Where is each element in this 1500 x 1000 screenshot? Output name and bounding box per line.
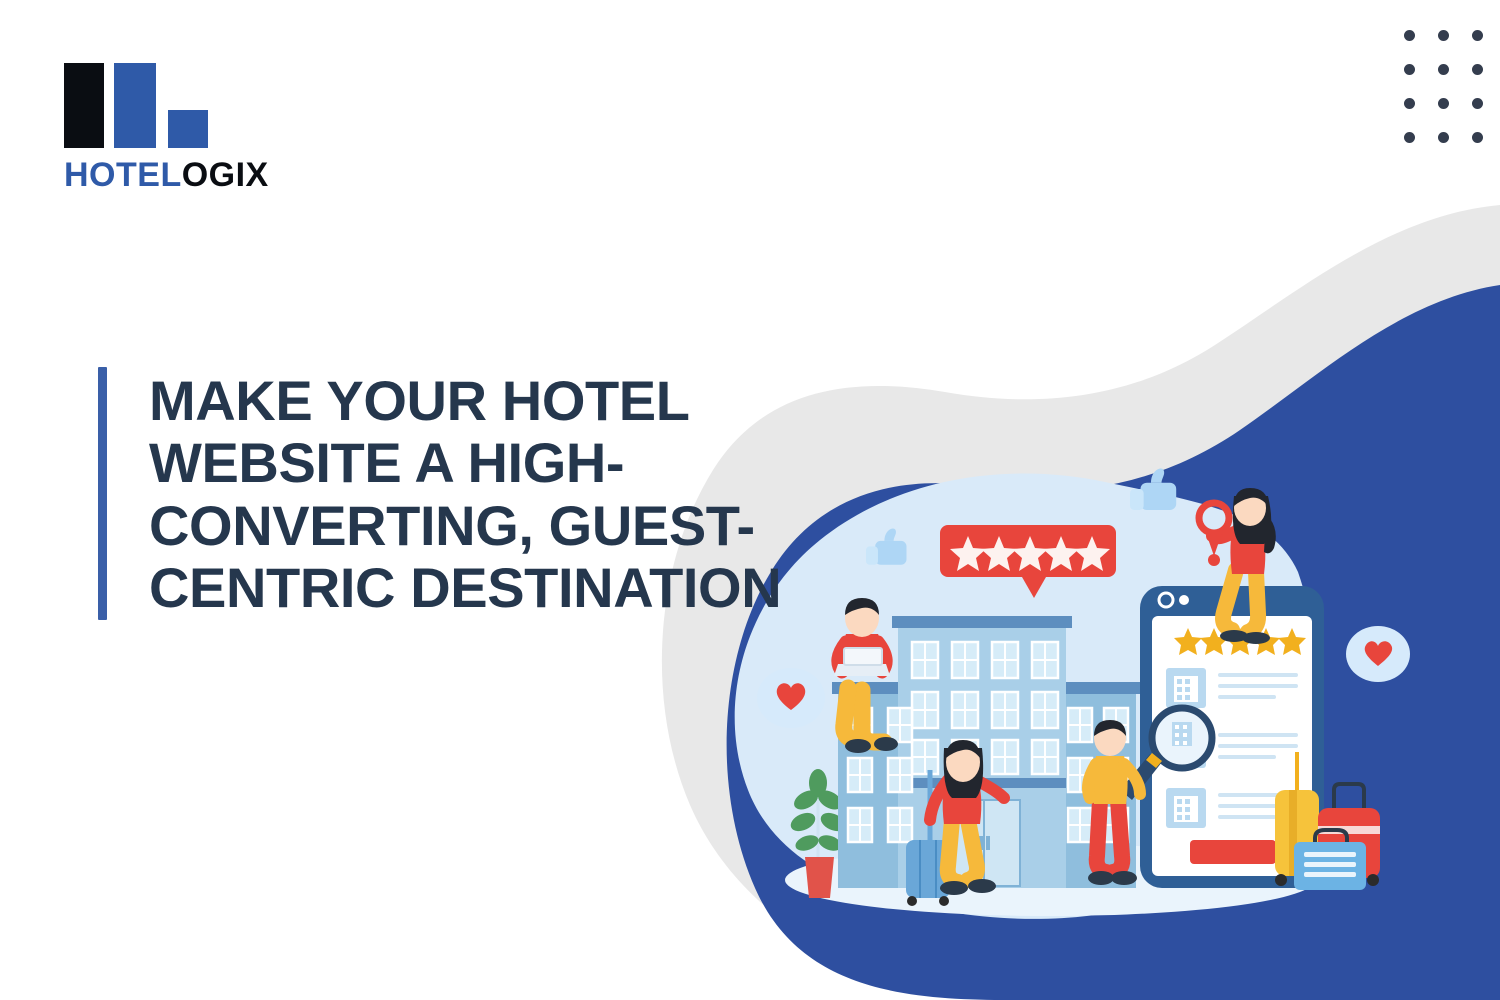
dot-grid-decoration [1392, 18, 1494, 154]
hero-banner: HOTELOGIX MAKE YOUR HOTEL WEBSITE A HIGH… [0, 0, 1500, 1000]
grid-dot [1438, 132, 1449, 143]
grid-dot [1472, 30, 1483, 41]
grid-dot [1404, 30, 1415, 41]
logo[interactable]: HOTELOGIX [64, 58, 304, 192]
heart-bubble-icon [757, 668, 825, 728]
grid-dot [1438, 30, 1449, 41]
headline-accent-bar [98, 367, 107, 620]
grid-dot [1404, 98, 1415, 109]
grid-dot [1438, 98, 1449, 109]
grid-dot [1404, 64, 1415, 75]
logo-bar-blue [114, 63, 156, 148]
grid-dot [1438, 64, 1449, 75]
logo-word-secondary: OGIX [182, 156, 269, 194]
headline-block: MAKE YOUR HOTEL WEBSITE A HIGH-CONVERTIN… [98, 367, 829, 620]
logo-mark [64, 58, 214, 148]
logo-bar-square [168, 110, 208, 148]
grid-dot [1472, 98, 1483, 109]
page-title: MAKE YOUR HOTEL WEBSITE A HIGH-CONVERTIN… [149, 367, 829, 620]
grid-dot [1472, 64, 1483, 75]
grid-dot [1472, 132, 1483, 143]
grid-dot [1404, 132, 1415, 143]
heart-bubble-icon [1346, 626, 1410, 682]
plant-pot [805, 857, 834, 898]
phone-cta-button [1190, 840, 1276, 864]
logo-word-primary: HOTEL [64, 156, 182, 194]
logo-bar-black [64, 63, 104, 148]
logo-wordmark: HOTELOGIX [64, 158, 304, 192]
